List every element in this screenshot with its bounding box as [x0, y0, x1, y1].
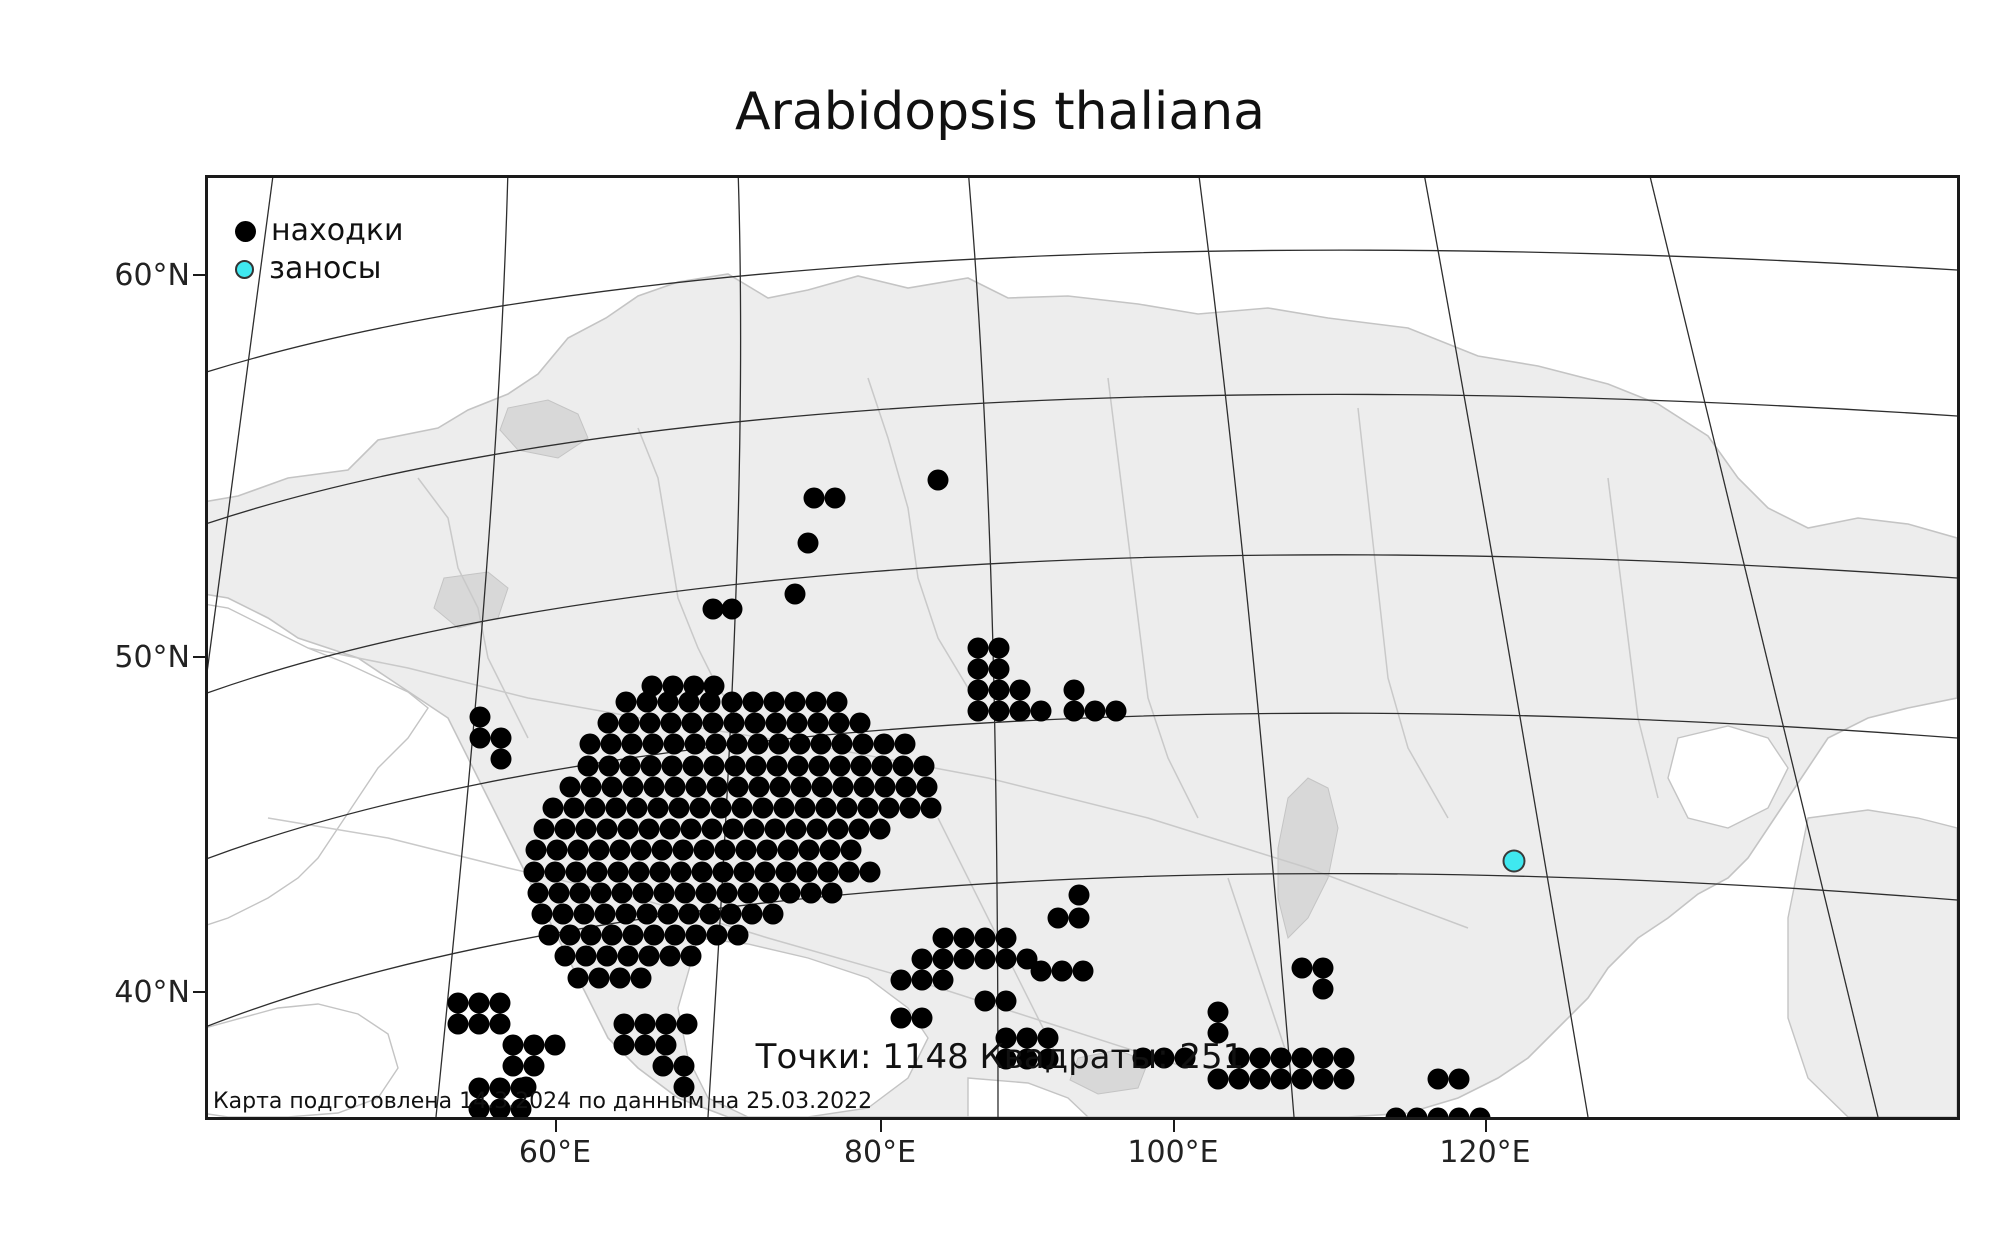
- occurrence-dot: [766, 713, 787, 734]
- occurrence-dot: [717, 883, 738, 904]
- occurrence-dot: [539, 925, 560, 946]
- occurrence-dot: [470, 707, 491, 728]
- occurrence-dot: [568, 968, 589, 989]
- occurrence-dot: [811, 734, 832, 755]
- occurrence-dot: [839, 862, 860, 883]
- occurrence-dot: [795, 798, 816, 819]
- occurrence-dot: [692, 862, 713, 883]
- occurrence-dot: [746, 756, 767, 777]
- occurrence-dot: [1031, 701, 1052, 722]
- occurrence-dot: [933, 928, 954, 949]
- occurrence-dot: [637, 904, 658, 925]
- occurrence-dot: [616, 692, 637, 713]
- occurrence-dot: [833, 777, 854, 798]
- black-dot-icon: [235, 221, 256, 242]
- occurrence-dot: [755, 862, 776, 883]
- occurrence-dot: [785, 692, 806, 713]
- occurrence-dot: [743, 692, 764, 713]
- occurrence-dot: [723, 819, 744, 840]
- occurrence-dot: [745, 713, 766, 734]
- occurrence-dot: [721, 904, 742, 925]
- occurrence-dot: [770, 777, 791, 798]
- lon-tick-120e: [1485, 1120, 1487, 1132]
- occurrence-dot: [469, 1014, 490, 1035]
- occurrence-dot: [1428, 1108, 1449, 1118]
- occurrence-dot: [643, 734, 664, 755]
- occurrence-dot: [528, 883, 549, 904]
- occurrence-dot: [896, 777, 917, 798]
- occurrence-dot: [759, 883, 780, 904]
- legend-label-introductions: заносы: [269, 254, 382, 284]
- occurrence-dot: [591, 883, 612, 904]
- occurrence-dot: [555, 946, 576, 967]
- occurrence-dot: [547, 840, 568, 861]
- occurrence-dot: [671, 862, 692, 883]
- occurrence-dot: [744, 819, 765, 840]
- occurrence-dot: [469, 993, 490, 1014]
- occurrence-dot: [620, 756, 641, 777]
- legend-label-findings: находки: [271, 216, 403, 246]
- occurrence-dot: [576, 946, 597, 967]
- occurrence-dot: [996, 928, 1017, 949]
- legend-item-introductions: заносы: [235, 250, 403, 288]
- occurrence-dot: [921, 798, 942, 819]
- occurrence-dot: [996, 991, 1017, 1012]
- occurrence-dot: [704, 756, 725, 777]
- occurrence-dot: [602, 925, 623, 946]
- occurrence-dot: [785, 584, 806, 605]
- occurrence-dot: [933, 970, 954, 991]
- occurrence-dot: [633, 883, 654, 904]
- lat-label-40n: 40°N: [40, 975, 190, 1010]
- occurrence-dot: [491, 728, 512, 749]
- occurrence-dot: [566, 862, 587, 883]
- occurrence-dot: [669, 798, 690, 819]
- occurrence-dot: [928, 470, 949, 491]
- occurrence-dot: [1064, 680, 1085, 701]
- introduction-dot: [1504, 851, 1525, 872]
- occurrence-dot: [801, 883, 822, 904]
- occurrence-dot: [580, 734, 601, 755]
- occurrence-dot: [618, 946, 639, 967]
- lon-label-120e: 120°E: [1395, 1135, 1575, 1170]
- occurrence-dot: [694, 840, 715, 861]
- occurrence-dot: [753, 798, 774, 819]
- occurrence-dot: [799, 840, 820, 861]
- occurrence-dot: [1470, 1108, 1491, 1118]
- occurrence-dot: [703, 713, 724, 734]
- occurrence-dot: [707, 925, 728, 946]
- occurrence-dot: [589, 968, 610, 989]
- occurrence-dot: [532, 904, 553, 925]
- occurrence-dot: [860, 862, 881, 883]
- occurrence-dot: [622, 734, 643, 755]
- occurrence-dot: [837, 798, 858, 819]
- occurrence-dot: [893, 756, 914, 777]
- map-page: Arabidopsis thaliana: [0, 0, 2000, 1253]
- occurrence-dot: [549, 883, 570, 904]
- occurrence-dot: [640, 713, 661, 734]
- occurrence-dot: [660, 819, 681, 840]
- occurrence-dot: [829, 713, 850, 734]
- occurrence-dot: [1449, 1108, 1470, 1118]
- occurrence-dot: [618, 819, 639, 840]
- occurrence-dot: [786, 819, 807, 840]
- occurrence-dot: [736, 840, 757, 861]
- occurrence-dot: [738, 883, 759, 904]
- occurrence-dot: [703, 599, 724, 620]
- occurrence-dot: [989, 701, 1010, 722]
- occurrence-dot: [776, 862, 797, 883]
- occurrence-dot: [732, 798, 753, 819]
- lon-tick-60e: [555, 1120, 557, 1132]
- occurrence-dot: [448, 1014, 469, 1035]
- lat-label-60n: 60°N: [40, 258, 190, 293]
- occurrence-dot: [665, 925, 686, 946]
- occurrence-dot: [581, 925, 602, 946]
- map-canvas[interactable]: [205, 175, 1960, 1120]
- occurrence-dot: [526, 840, 547, 861]
- occurrence-dot: [996, 949, 1017, 970]
- occurrence-dot: [1208, 1002, 1229, 1023]
- occurrence-dot: [724, 713, 745, 734]
- occurrence-dot: [806, 692, 827, 713]
- occurrence-dot: [975, 949, 996, 970]
- map-graphic: [208, 178, 1957, 1117]
- occurrence-dot: [1048, 908, 1069, 929]
- occurrence-dot: [748, 734, 769, 755]
- occurrence-dot: [696, 883, 717, 904]
- occurrence-dot: [578, 756, 599, 777]
- cyan-dot-icon: [235, 260, 254, 279]
- occurrence-dot: [874, 734, 895, 755]
- occurrence-dot: [631, 840, 652, 861]
- lat-label-50n: 50°N: [40, 640, 190, 675]
- occurrence-dot: [917, 777, 938, 798]
- occurrence-dot: [872, 756, 893, 777]
- occurrence-dot: [1069, 885, 1090, 906]
- occurrence-dot: [702, 819, 723, 840]
- occurrence-dot: [553, 904, 574, 925]
- occurrence-dot: [728, 777, 749, 798]
- occurrence-dot: [727, 734, 748, 755]
- occurrence-dot: [658, 692, 679, 713]
- occurrence-dot: [491, 749, 512, 770]
- occurrence-dot: [780, 883, 801, 904]
- lat-tick-40n: [193, 991, 205, 993]
- occurrence-dot: [822, 883, 843, 904]
- occurrence-dot: [602, 777, 623, 798]
- occurrence-dot: [912, 1008, 933, 1029]
- lon-label-60e: 60°E: [465, 1135, 645, 1170]
- occurrence-dot: [1052, 961, 1073, 982]
- occurrence-dot: [599, 756, 620, 777]
- occurrence-dot: [933, 949, 954, 970]
- occurrence-dot: [830, 756, 851, 777]
- occurrence-dot: [597, 819, 618, 840]
- occurrence-dot: [1064, 701, 1085, 722]
- credit-note: Карта подготовлена 14.3.2024 по данным н…: [213, 1089, 872, 1114]
- occurrence-dot: [895, 734, 916, 755]
- occurrence-dot: [968, 680, 989, 701]
- occurrence-dot: [629, 862, 650, 883]
- occurrence-dot: [683, 756, 704, 777]
- occurrence-dot: [989, 638, 1010, 659]
- occurrence-dot: [1069, 908, 1090, 929]
- lon-label-100e: 100°E: [1083, 1135, 1263, 1170]
- occurrence-dot: [654, 883, 675, 904]
- legend-item-findings: находки: [235, 212, 403, 250]
- occurrence-dot: [587, 862, 608, 883]
- occurrence-dot: [707, 777, 728, 798]
- occurrence-dot: [989, 659, 1010, 680]
- occurrence-dot: [534, 819, 555, 840]
- occurrence-dot: [681, 946, 702, 967]
- occurrence-dot: [849, 819, 870, 840]
- occurrence-dot: [875, 777, 896, 798]
- occurrence-dot: [891, 970, 912, 991]
- occurrence-dot: [725, 756, 746, 777]
- occurrence-dot: [601, 734, 622, 755]
- occurrence-dot: [560, 777, 581, 798]
- occurrence-dot: [975, 928, 996, 949]
- occurrence-dot: [722, 692, 743, 713]
- occurrence-dot: [644, 925, 665, 946]
- occurrence-dot: [841, 840, 862, 861]
- occurrence-dot: [713, 862, 734, 883]
- occurrence-dot: [610, 968, 631, 989]
- occurrence-dot: [681, 819, 702, 840]
- occurrence-dot: [968, 701, 989, 722]
- occurrence-dot: [912, 949, 933, 970]
- occurrence-dot: [798, 533, 819, 554]
- occurrence-dot: [975, 991, 996, 1012]
- occurrence-dot: [595, 904, 616, 925]
- lon-tick-100e: [1173, 1120, 1175, 1132]
- occurrence-dot: [673, 840, 694, 861]
- occurrence-dot: [1292, 958, 1313, 979]
- occurrence-dot: [820, 840, 841, 861]
- occurrence-dot: [597, 946, 618, 967]
- occurrence-dot: [623, 777, 644, 798]
- occurrence-dot: [700, 904, 721, 925]
- occurrence-dot: [791, 777, 812, 798]
- occurrence-dot: [914, 756, 935, 777]
- occurrence-dot: [968, 659, 989, 680]
- occurrence-dot: [677, 1014, 698, 1035]
- occurrence-dot: [764, 692, 785, 713]
- occurrence-dot: [1313, 958, 1334, 979]
- occurrence-dot: [545, 862, 566, 883]
- occurrence-dot: [711, 798, 732, 819]
- occurrence-dot: [788, 756, 809, 777]
- occurrence-dot: [734, 862, 755, 883]
- occurrence-dot: [1031, 961, 1052, 982]
- occurrence-dot: [832, 734, 853, 755]
- occurrence-dot: [637, 692, 658, 713]
- occurrence-dot: [804, 488, 825, 509]
- occurrence-dot: [470, 728, 491, 749]
- occurrence-dot: [763, 904, 784, 925]
- occurrence-dot: [870, 819, 891, 840]
- occurrence-dot: [639, 946, 660, 967]
- occurrence-dot: [606, 798, 627, 819]
- occurrence-dot: [656, 1014, 677, 1035]
- occurrence-dot: [807, 819, 828, 840]
- occurrence-dot: [679, 692, 700, 713]
- occurrence-dot: [581, 777, 602, 798]
- occurrence-dot: [828, 819, 849, 840]
- occurrence-dot: [490, 1014, 511, 1035]
- occurrence-dot: [706, 734, 727, 755]
- occurrence-dot: [825, 488, 846, 509]
- occurrence-dot: [715, 840, 736, 861]
- occurrence-dot: [564, 798, 585, 819]
- occurrence-dot: [679, 904, 700, 925]
- occurrence-dot: [614, 1014, 635, 1035]
- occurrence-dot: [598, 713, 619, 734]
- occurrence-dot: [989, 680, 1010, 701]
- occurrence-dot: [787, 713, 808, 734]
- occurrence-dot: [765, 819, 786, 840]
- occurrence-dot: [648, 798, 669, 819]
- occurrence-dot: [570, 883, 591, 904]
- occurrence-dot: [749, 777, 770, 798]
- occurrence-dot: [790, 734, 811, 755]
- occurrence-dot: [560, 925, 581, 946]
- occurrence-dot: [662, 756, 683, 777]
- occurrence-dot: [1085, 701, 1106, 722]
- occurrence-dot: [728, 925, 749, 946]
- occurrence-dot: [641, 756, 662, 777]
- occurrence-dot: [742, 904, 763, 925]
- occurrence-dot: [576, 819, 597, 840]
- occurrence-dot: [686, 925, 707, 946]
- occurrence-dot: [812, 777, 833, 798]
- occurrence-dot: [858, 798, 879, 819]
- occurrence-dot: [635, 1014, 656, 1035]
- occurrence-dot: [778, 840, 799, 861]
- occurrence-dot: [853, 734, 874, 755]
- occurrence-dot: [690, 798, 711, 819]
- occurrence-dot: [660, 946, 681, 967]
- occurrence-dot: [808, 713, 829, 734]
- occurrence-dot: [589, 840, 610, 861]
- occurrence-dot: [543, 798, 564, 819]
- occurrence-dot: [652, 840, 673, 861]
- occurrence-dot: [644, 777, 665, 798]
- occurrence-dot: [619, 713, 640, 734]
- occurrence-dot: [1313, 979, 1334, 1000]
- occurrence-dot: [900, 798, 921, 819]
- occurrence-dot: [568, 840, 589, 861]
- occurrence-dot: [639, 819, 660, 840]
- occurrence-dot: [912, 970, 933, 991]
- lat-tick-60n: [193, 274, 205, 276]
- occurrence-dot: [851, 756, 872, 777]
- occurrence-dot: [757, 840, 778, 861]
- page-title: Arabidopsis thaliana: [0, 82, 2000, 142]
- occurrence-dot: [585, 798, 606, 819]
- occurrence-dot: [574, 904, 595, 925]
- occurrence-dot: [627, 798, 648, 819]
- occurrence-dot: [774, 798, 795, 819]
- occurrence-dot: [700, 692, 721, 713]
- occurrence-dot: [682, 713, 703, 734]
- occurrence-dot: [610, 840, 631, 861]
- occurrence-dot: [891, 1008, 912, 1029]
- occurrence-dot: [490, 993, 511, 1014]
- map-legend: находки заносы: [235, 212, 403, 288]
- occurrence-dot: [722, 599, 743, 620]
- lon-label-80e: 80°E: [790, 1135, 970, 1170]
- counts-summary: Точки: 1148 Квадраты: 251: [0, 1037, 2000, 1077]
- occurrence-dot: [818, 862, 839, 883]
- occurrence-dot: [1106, 701, 1127, 722]
- occurrence-dot: [954, 949, 975, 970]
- occurrence-dot: [661, 713, 682, 734]
- occurrence-dot: [616, 904, 637, 925]
- occurrence-dot: [769, 734, 790, 755]
- occurrence-dot: [854, 777, 875, 798]
- occurrence-dot: [686, 777, 707, 798]
- occurrence-dot: [612, 883, 633, 904]
- occurrence-dot: [816, 798, 837, 819]
- occurrence-dot: [797, 862, 818, 883]
- occurrence-dot: [809, 756, 830, 777]
- occurrence-dot: [850, 713, 871, 734]
- occurrence-dot: [1010, 701, 1031, 722]
- occurrence-dot: [767, 756, 788, 777]
- occurrence-dot: [555, 819, 576, 840]
- occurrence-dot: [665, 777, 686, 798]
- occurrence-dot: [827, 692, 848, 713]
- occurrence-dot: [524, 862, 545, 883]
- occurrence-dot: [1010, 680, 1031, 701]
- occurrence-dot: [685, 734, 706, 755]
- occurrence-dot: [658, 904, 679, 925]
- occurrence-dot: [954, 928, 975, 949]
- lon-tick-80e: [880, 1120, 882, 1132]
- lat-tick-50n: [193, 656, 205, 658]
- occurrence-dot: [879, 798, 900, 819]
- occurrence-dot: [675, 883, 696, 904]
- occurrence-dot: [631, 968, 652, 989]
- occurrence-dot: [664, 734, 685, 755]
- occurrence-dot: [608, 862, 629, 883]
- occurrence-dot: [623, 925, 644, 946]
- occurrence-dot: [968, 638, 989, 659]
- occurrence-dot: [448, 993, 469, 1014]
- occurrence-dot: [650, 862, 671, 883]
- occurrence-dot: [1073, 961, 1094, 982]
